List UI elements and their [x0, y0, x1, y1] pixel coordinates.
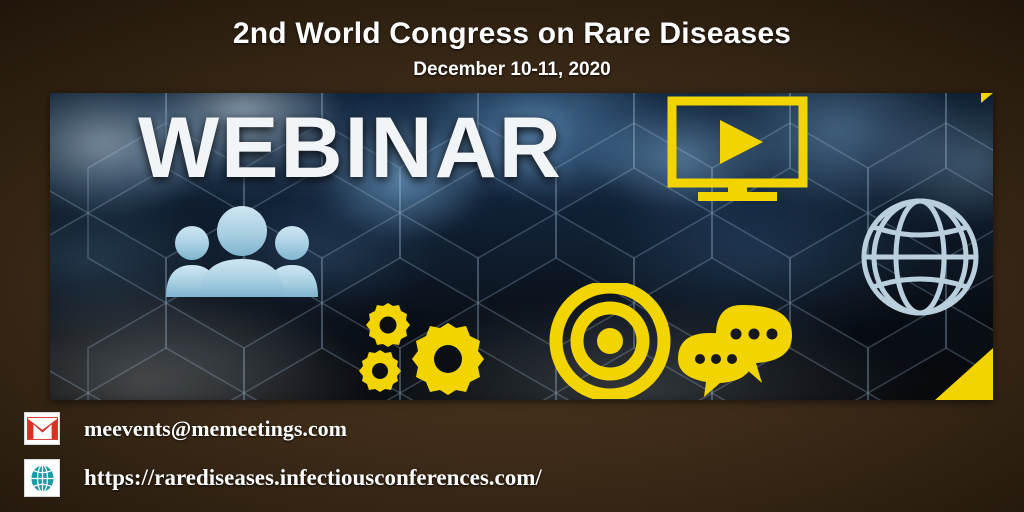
banner-corner-accent-bottom-right [935, 348, 993, 400]
contact-row-email[interactable]: meevents@memeetings.com [24, 412, 542, 445]
people-group-icon [158, 205, 326, 305]
contact-block: meevents@memeetings.com https://raredise [24, 412, 542, 511]
event-date-subtitle: December 10-11, 2020 [0, 50, 1024, 81]
webinar-banner: WEBINAR [50, 93, 993, 400]
contact-website-text[interactable]: https://rarediseases.infectiousconferenc… [84, 465, 542, 491]
monitor-play-icon [665, 96, 810, 208]
chat-bubbles-icon [670, 301, 805, 397]
banner-headline: WEBINAR [138, 99, 563, 198]
gears-icon [350, 301, 500, 397]
banner-corner-accent-top-right [981, 93, 993, 103]
contact-row-website[interactable]: https://rarediseases.infectiousconferenc… [24, 459, 542, 497]
page-title: 2nd World Congress on Rare Diseases [0, 0, 1024, 50]
header: 2nd World Congress on Rare Diseases Dece… [0, 0, 1024, 81]
gmail-icon [24, 412, 60, 445]
promo-banner-page: 2nd World Congress on Rare Diseases Dece… [0, 0, 1024, 512]
globe-wireframe-icon [855, 191, 985, 323]
target-icon [545, 283, 675, 399]
website-globe-icon [24, 459, 60, 497]
contact-email-text[interactable]: meevents@memeetings.com [84, 416, 347, 442]
